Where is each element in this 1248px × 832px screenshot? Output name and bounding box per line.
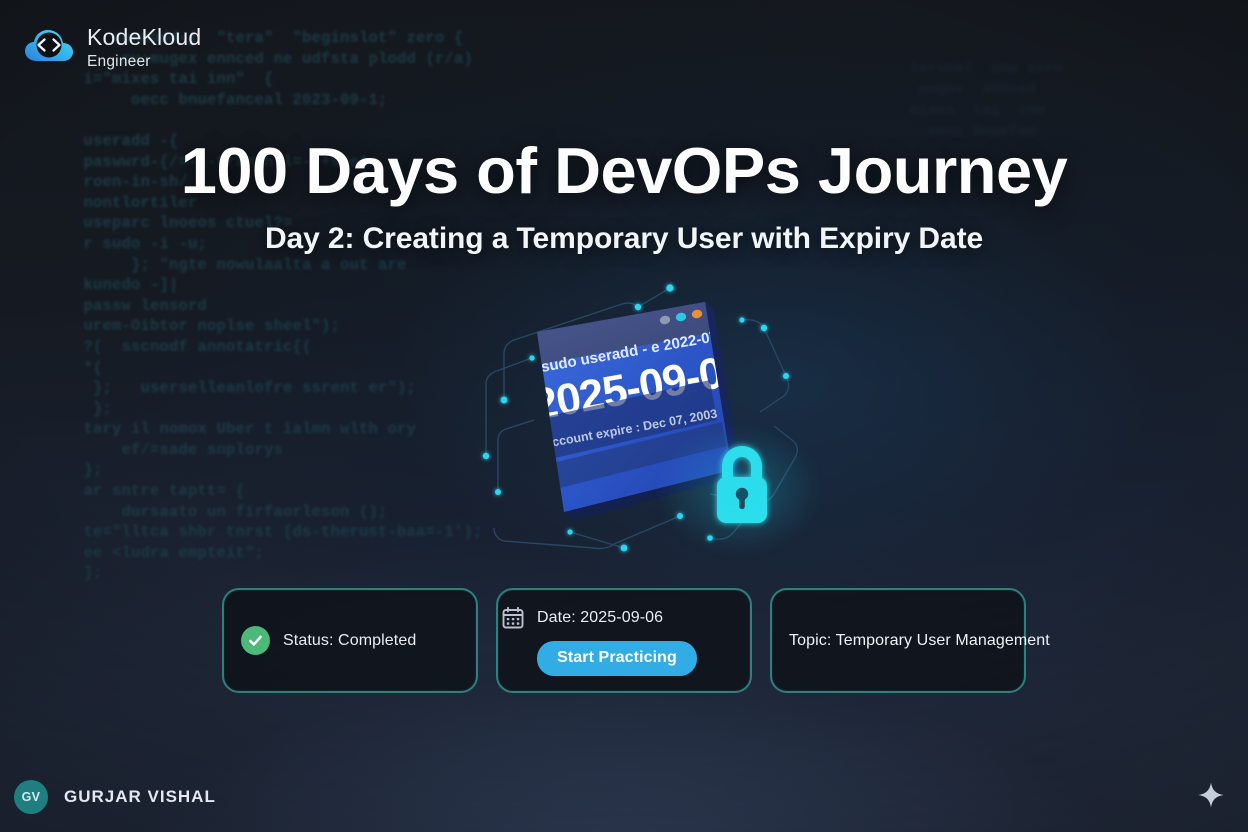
date-label: Date: 2025-09-06 — [537, 609, 663, 627]
brand-logo[interactable]: KodeKloud Engineer — [24, 24, 201, 70]
poster-stage: sunnodd-j "tera" "beginslot" zero { ru:m… — [0, 0, 1248, 832]
card-topic[interactable]: Topic: Temporary User Management — [770, 588, 1026, 693]
footer-author[interactable]: GV GURJAR VISHAL — [14, 780, 216, 814]
brand-text: KodeKloud Engineer — [87, 24, 201, 70]
card-date-row: Date: 2025-09-06 — [501, 606, 733, 630]
card-status-row: Status: Completed — [241, 626, 459, 655]
background-code-right: terunal unw zero mugex annced mixes tai … — [892, 58, 1222, 142]
isometric-terminal-graphic: sudo useradd - e 2022-07 anita 2025-09-0… — [474, 280, 804, 565]
card-date[interactable]: Date: 2025-09-06 Start Practicing — [496, 588, 752, 693]
check-circle-icon — [241, 626, 270, 655]
page-subtitle: Day 2: Creating a Temporary User with Ex… — [0, 222, 1248, 256]
padlock-icon — [717, 446, 767, 523]
brand-subtitle: Engineer — [87, 54, 201, 70]
background-code-left: sunnodd-j "tera" "beginslot" zero { ru:m… — [74, 28, 534, 584]
avatar: GV — [14, 780, 48, 814]
status-label: Status: Completed — [283, 632, 416, 650]
card-status[interactable]: Status: Completed — [222, 588, 478, 693]
topic-label: Topic: Temporary User Management — [789, 632, 1050, 650]
sparkle-icon — [1198, 782, 1224, 808]
start-practicing-button[interactable]: Start Practicing — [537, 641, 697, 676]
brand-name: KodeKloud — [87, 26, 201, 49]
calendar-icon — [501, 606, 525, 630]
background-code-bottom: kunedo -]| passw lensord sudo -i -u — [700, 736, 1130, 802]
info-cards: Status: Completed — [0, 588, 1248, 696]
author-name: GURJAR VISHAL — [64, 787, 216, 807]
cloud-code-icon — [24, 26, 74, 68]
page-title: 100 Days of DevOPs Journey — [0, 133, 1248, 208]
card-topic-row: Topic: Temporary User Management — [789, 632, 1007, 650]
hero-illustration: sudo useradd - e 2022-07 anita 2025-09-0… — [474, 280, 804, 565]
